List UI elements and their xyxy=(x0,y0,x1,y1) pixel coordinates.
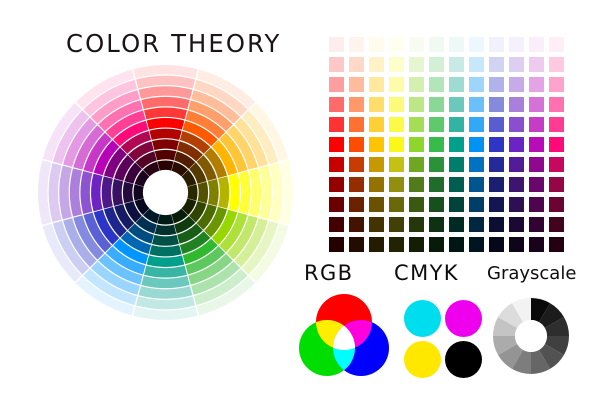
swatch xyxy=(409,157,424,172)
swatch-grid xyxy=(329,37,564,252)
swatch xyxy=(529,117,544,132)
swatch xyxy=(329,97,344,112)
color-wheel-center-hole xyxy=(144,171,188,215)
swatch xyxy=(369,157,384,172)
wheel-segment xyxy=(152,139,179,150)
swatch xyxy=(429,57,444,72)
swatch xyxy=(349,217,364,232)
swatch xyxy=(329,137,344,152)
swatch xyxy=(469,57,484,72)
cmyk-dot-cyan xyxy=(404,300,441,337)
swatch xyxy=(389,37,404,52)
swatch xyxy=(329,217,344,232)
swatch xyxy=(349,117,364,132)
swatch xyxy=(509,157,524,172)
swatch xyxy=(529,237,544,252)
swatch xyxy=(329,177,344,192)
swatch xyxy=(469,137,484,152)
swatch xyxy=(349,237,364,252)
swatch xyxy=(389,97,404,112)
swatch xyxy=(489,137,504,152)
swatch xyxy=(349,97,364,112)
swatch xyxy=(469,37,484,52)
swatch xyxy=(489,57,504,72)
swatch xyxy=(429,37,444,52)
swatch xyxy=(329,57,344,72)
wheel-segment xyxy=(102,176,113,208)
swatch xyxy=(409,37,424,52)
swatch xyxy=(509,77,524,92)
swatch xyxy=(469,197,484,212)
swatch xyxy=(329,77,344,92)
swatch xyxy=(389,57,404,72)
swatch xyxy=(489,157,504,172)
wheel-segment xyxy=(70,168,82,216)
swatch xyxy=(409,97,424,112)
swatch xyxy=(509,37,524,52)
swatch xyxy=(429,157,444,172)
wheel-segment xyxy=(239,171,251,214)
wheel-segment xyxy=(147,118,185,130)
swatch xyxy=(489,37,504,52)
swatch xyxy=(369,217,384,232)
swatch xyxy=(469,237,484,252)
swatch xyxy=(369,137,384,152)
swatch xyxy=(469,217,484,232)
swatch xyxy=(349,37,364,52)
wheel-segment xyxy=(134,184,144,200)
swatch xyxy=(529,77,544,92)
swatch xyxy=(549,157,564,172)
swatch xyxy=(509,197,524,212)
cmyk-dots xyxy=(404,300,482,378)
swatch xyxy=(329,237,344,252)
swatch xyxy=(449,237,464,252)
swatch xyxy=(329,197,344,212)
color-theory-poster: COLOR THEORY RGB CMYK Grayscale xyxy=(0,0,600,400)
swatch xyxy=(349,77,364,92)
swatch xyxy=(389,117,404,132)
swatch xyxy=(389,157,404,172)
swatch xyxy=(389,137,404,152)
swatch xyxy=(549,177,564,192)
swatch xyxy=(509,117,524,132)
swatch xyxy=(349,177,364,192)
wheel-segment xyxy=(149,129,181,140)
color-wheel xyxy=(36,63,295,322)
swatch xyxy=(449,197,464,212)
swatch xyxy=(449,117,464,132)
swatch xyxy=(409,57,424,72)
swatch xyxy=(369,97,384,112)
wheel-segment xyxy=(198,182,208,204)
swatch xyxy=(369,37,384,52)
wheel-segment xyxy=(144,108,187,120)
wheel-segment xyxy=(157,214,173,224)
wheel-segment xyxy=(228,174,240,212)
swatch xyxy=(409,137,424,152)
swatch xyxy=(429,197,444,212)
swatch xyxy=(489,237,504,252)
wheel-segment xyxy=(112,179,123,206)
wheel-segment xyxy=(91,174,103,212)
swatch xyxy=(389,177,404,192)
wheel-segment xyxy=(208,179,219,206)
swatch xyxy=(509,57,524,72)
swatch xyxy=(389,237,404,252)
wheel-segment xyxy=(141,97,189,109)
wheel-segment xyxy=(147,255,185,267)
swatch xyxy=(469,157,484,172)
swatch xyxy=(509,237,524,252)
swatch xyxy=(349,157,364,172)
swatch xyxy=(489,117,504,132)
wheel-segment xyxy=(149,245,181,256)
wheel-segment xyxy=(123,182,133,204)
swatch xyxy=(389,217,404,232)
swatch xyxy=(409,117,424,132)
swatch xyxy=(349,197,364,212)
swatch xyxy=(329,37,344,52)
swatch xyxy=(469,77,484,92)
wheel-segment xyxy=(218,176,229,208)
swatch xyxy=(549,217,564,232)
swatch xyxy=(529,97,544,112)
swatch xyxy=(549,197,564,212)
swatch xyxy=(369,57,384,72)
swatch xyxy=(369,197,384,212)
swatch xyxy=(469,117,484,132)
swatch xyxy=(409,237,424,252)
cmyk-dot-key-black xyxy=(445,341,482,378)
swatch xyxy=(489,177,504,192)
swatch xyxy=(489,77,504,92)
swatch xyxy=(449,37,464,52)
swatch xyxy=(409,77,424,92)
swatch xyxy=(549,237,564,252)
swatch xyxy=(409,177,424,192)
swatch xyxy=(489,217,504,232)
swatch xyxy=(529,157,544,172)
swatch xyxy=(489,197,504,212)
wheel-segment xyxy=(144,266,187,278)
swatch xyxy=(509,217,524,232)
swatch xyxy=(509,137,524,152)
swatch xyxy=(549,97,564,112)
swatch xyxy=(529,57,544,72)
swatch xyxy=(509,177,524,192)
wheel-segment xyxy=(81,171,93,214)
cmyk-dot-magenta xyxy=(445,300,482,337)
swatch xyxy=(469,97,484,112)
swatch xyxy=(369,237,384,252)
swatch xyxy=(429,137,444,152)
swatch xyxy=(429,97,444,112)
swatch xyxy=(449,177,464,192)
swatch xyxy=(529,197,544,212)
wheel-segment xyxy=(152,235,179,246)
grayscale-label: Grayscale xyxy=(487,263,576,284)
swatch xyxy=(429,77,444,92)
swatch xyxy=(509,97,524,112)
swatch xyxy=(449,57,464,72)
swatch xyxy=(549,117,564,132)
swatch xyxy=(489,97,504,112)
swatch xyxy=(449,217,464,232)
swatch xyxy=(429,117,444,132)
swatch xyxy=(529,37,544,52)
color-wheel-svg xyxy=(36,63,295,322)
cmyk-dot-yellow xyxy=(404,341,441,378)
swatch xyxy=(529,137,544,152)
swatch xyxy=(349,137,364,152)
swatch xyxy=(469,177,484,192)
swatch xyxy=(369,77,384,92)
swatch xyxy=(389,197,404,212)
swatch xyxy=(329,117,344,132)
swatch xyxy=(529,177,544,192)
swatch xyxy=(549,57,564,72)
swatch xyxy=(369,177,384,192)
swatch xyxy=(429,217,444,232)
swatch xyxy=(449,97,464,112)
wheel-segment xyxy=(155,225,177,235)
swatch xyxy=(409,197,424,212)
wheel-segment xyxy=(187,184,197,200)
rgb-venn-diagram xyxy=(298,292,390,378)
swatch xyxy=(369,117,384,132)
wheel-segment xyxy=(157,161,173,171)
swatch xyxy=(449,77,464,92)
rgb-label: RGB xyxy=(304,261,353,285)
wheel-segment xyxy=(155,150,177,160)
swatch xyxy=(549,137,564,152)
swatch xyxy=(409,217,424,232)
grayscale-center-hole xyxy=(515,320,547,352)
swatch xyxy=(549,37,564,52)
page-title: COLOR THEORY xyxy=(66,29,281,58)
swatch xyxy=(449,137,464,152)
swatch xyxy=(389,77,404,92)
swatch xyxy=(429,177,444,192)
grayscale-donut xyxy=(492,297,570,375)
swatch xyxy=(449,157,464,172)
swatch xyxy=(429,237,444,252)
swatch xyxy=(329,157,344,172)
swatch xyxy=(349,57,364,72)
swatch xyxy=(529,217,544,232)
swatch xyxy=(549,77,564,92)
wheel-segment xyxy=(249,168,261,216)
cmyk-label: CMYK xyxy=(394,261,459,285)
wheel-segment xyxy=(141,276,189,288)
